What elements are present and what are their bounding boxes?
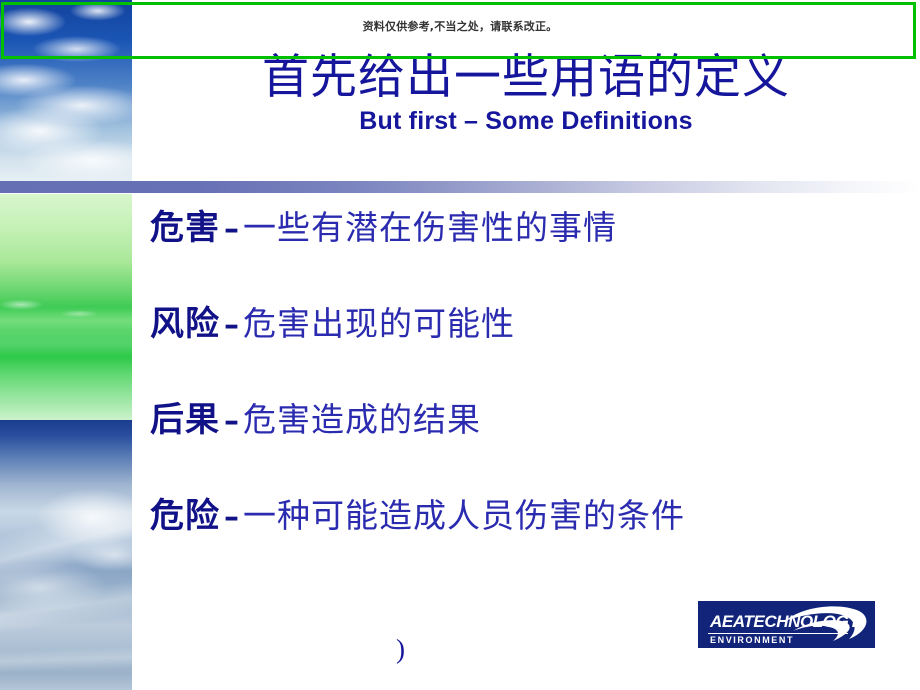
- definition-list: 危害–一些有潜在伤害性的事情 风险–危害出现的可能性 后果–危害造成的结果 危险…: [150, 200, 910, 584]
- definition-dash: –: [220, 212, 243, 247]
- definition-dash: –: [220, 404, 243, 439]
- definition-term: 危害: [150, 208, 220, 248]
- definition-term: 风险: [150, 304, 220, 344]
- logo-wordmark: AEATECHNOLOGY: [710, 612, 859, 632]
- definition-description: 危害造成的结果: [243, 400, 481, 439]
- logo-divider-rule: [708, 633, 848, 634]
- definition-term: 后果: [150, 400, 220, 440]
- slide-canvas: 首先给出一些用语的定义 But first – Some Definitions…: [0, 0, 920, 690]
- stray-parenthesis: ): [396, 634, 405, 665]
- definition-description: 危害出现的可能性: [243, 304, 515, 343]
- green-landscape-photo: [0, 194, 132, 420]
- definition-row: 后果–危害造成的结果: [150, 392, 910, 488]
- definition-description: 一种可能造成人员伤害的条件: [243, 496, 685, 535]
- title-block: 首先给出一些用语的定义 But first – Some Definitions: [132, 52, 920, 136]
- notice-banner-text: 资料仅供参考,不当之处，请联系改正。: [0, 18, 920, 34]
- definition-dash: –: [220, 500, 243, 535]
- definition-row: 风险–危害出现的可能性: [150, 296, 910, 392]
- aea-technology-logo: AEATECHNOLOGY ENVIRONMENT: [698, 601, 875, 648]
- gradient-divider-bar: [0, 181, 920, 193]
- logo-subtitle: ENVIRONMENT: [710, 635, 794, 645]
- definition-row: 危险–一种可能造成人员伤害的条件: [150, 488, 910, 584]
- definition-term: 危险: [150, 496, 220, 536]
- definition-row: 危害–一些有潜在伤害性的事情: [150, 200, 910, 296]
- page-subtitle: But first – Some Definitions: [132, 106, 920, 136]
- page-title: 首先给出一些用语的定义: [132, 52, 920, 104]
- definition-description: 一些有潜在伤害性的事情: [243, 208, 617, 247]
- ocean-wave-photo: [0, 420, 132, 690]
- sidebar-photo-column: [0, 0, 132, 690]
- definition-dash: –: [220, 308, 243, 343]
